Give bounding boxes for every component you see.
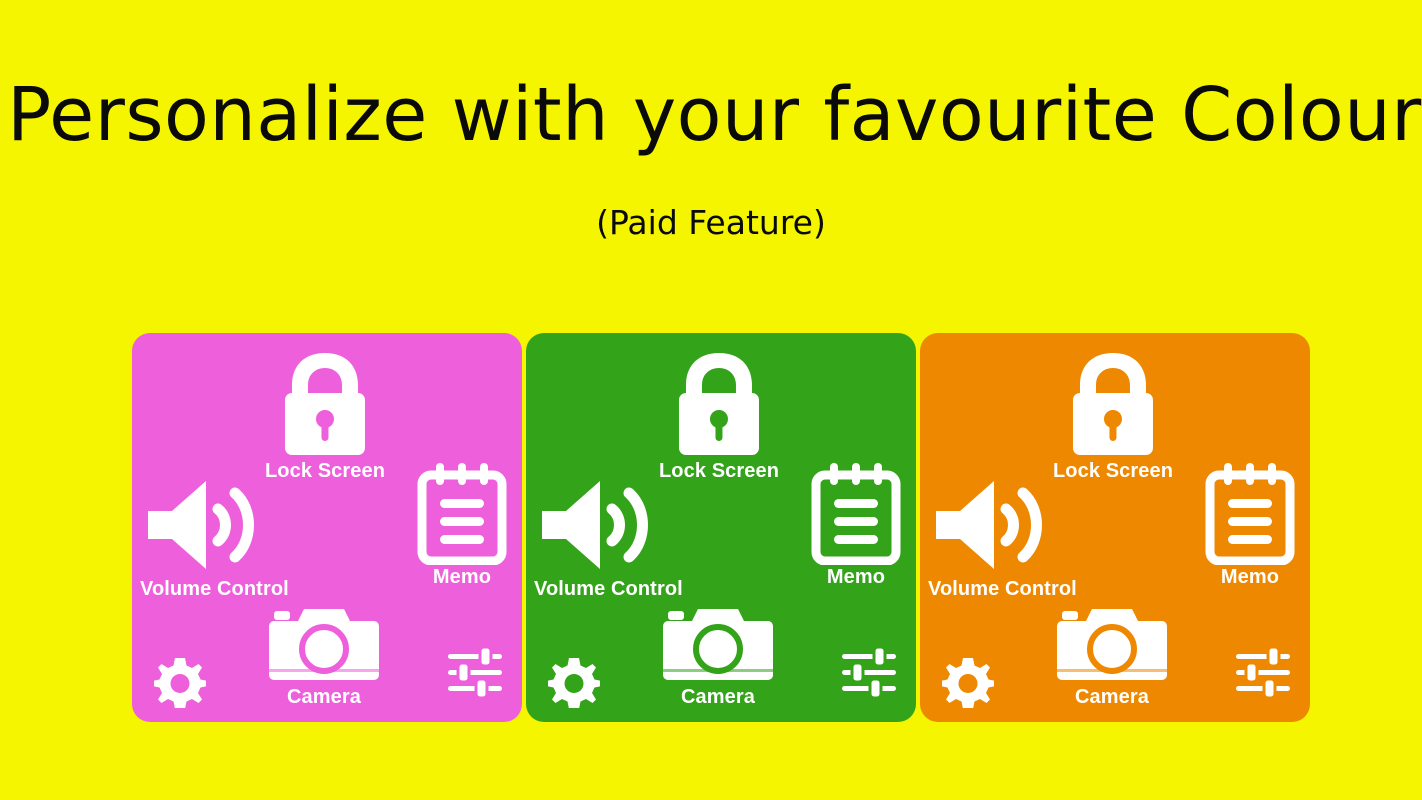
lock-screen-tile[interactable]: Lock Screen xyxy=(265,347,385,482)
volume-control-tile[interactable]: Volume Control xyxy=(928,473,1077,600)
theme-card[interactable]: Lock Screen Volume Control xyxy=(526,333,916,722)
tile-label: Memo xyxy=(827,567,885,588)
lock-screen-tile[interactable]: Lock Screen xyxy=(659,347,779,482)
tile-label: Volume Control xyxy=(928,579,1077,600)
gear-icon[interactable] xyxy=(154,656,206,708)
page-title: Personalize with your favourite Colours xyxy=(7,78,1415,152)
gear-icon[interactable] xyxy=(942,656,994,708)
page-subtitle: (Paid Feature) xyxy=(0,206,1422,239)
camera-tile[interactable]: Camera xyxy=(1054,605,1170,708)
lock-icon xyxy=(1061,347,1165,459)
speaker-icon xyxy=(928,473,1052,577)
sliders-icon[interactable] xyxy=(1234,646,1292,700)
camera-icon xyxy=(1054,605,1170,685)
speaker-icon xyxy=(140,473,264,577)
volume-control-tile[interactable]: Volume Control xyxy=(140,473,289,600)
sliders-icon[interactable] xyxy=(840,646,898,700)
memo-tile[interactable]: Memo xyxy=(416,461,508,588)
tile-label: Camera xyxy=(681,687,755,708)
camera-icon xyxy=(660,605,776,685)
camera-icon xyxy=(266,605,382,685)
memo-tile[interactable]: Memo xyxy=(1204,461,1296,588)
tile-label: Volume Control xyxy=(534,579,683,600)
tile-label: Volume Control xyxy=(140,579,289,600)
lock-icon xyxy=(667,347,771,459)
tile-label: Camera xyxy=(287,687,361,708)
memo-icon xyxy=(810,461,902,565)
tile-label: Memo xyxy=(1221,567,1279,588)
theme-card[interactable]: Lock Screen Volume Control xyxy=(920,333,1310,722)
camera-tile[interactable]: Camera xyxy=(266,605,382,708)
camera-tile[interactable]: Camera xyxy=(660,605,776,708)
volume-control-tile[interactable]: Volume Control xyxy=(534,473,683,600)
memo-icon xyxy=(416,461,508,565)
memo-tile[interactable]: Memo xyxy=(810,461,902,588)
tile-label: Memo xyxy=(433,567,491,588)
memo-icon xyxy=(1204,461,1296,565)
lock-screen-tile[interactable]: Lock Screen xyxy=(1053,347,1173,482)
tile-label: Camera xyxy=(1075,687,1149,708)
lock-icon xyxy=(273,347,377,459)
theme-card[interactable]: Lock Screen Volume Control xyxy=(132,333,522,722)
theme-card-row: Lock Screen Volume Control xyxy=(132,333,1310,722)
speaker-icon xyxy=(534,473,658,577)
promo-slide: Personalize with your favourite Colours … xyxy=(0,0,1422,800)
sliders-icon[interactable] xyxy=(446,646,504,700)
gear-icon[interactable] xyxy=(548,656,600,708)
